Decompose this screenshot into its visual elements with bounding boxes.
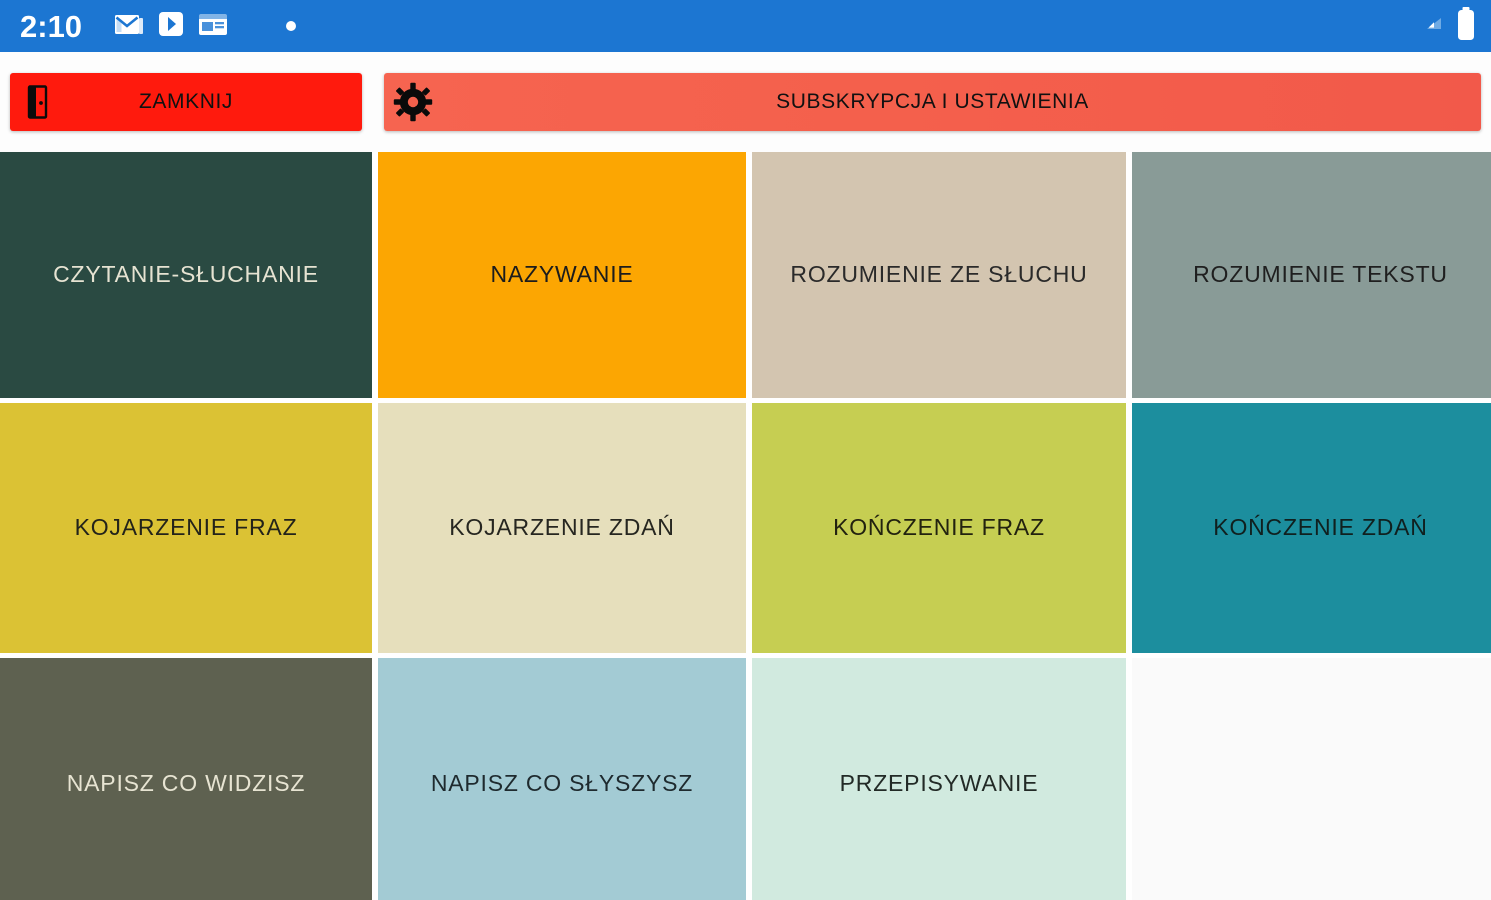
tile-rozumienie-ze-sluchu[interactable]: ROZUMIENIE ZE SŁUCHU <box>752 152 1126 398</box>
tile-nazywanie[interactable]: NAZYWANIE <box>378 152 746 398</box>
tile-konczenie-fraz[interactable]: KOŃCZENIE FRAZ <box>752 403 1126 653</box>
tile-label: ROZUMIENIE TEKSTU <box>1183 261 1458 289</box>
tile-label: CZYTANIE-SŁUCHANIE <box>43 261 329 289</box>
tile-label: NAZYWANIE <box>480 261 643 289</box>
tile-label: ROZUMIENIE ZE SŁUCHU <box>780 261 1097 289</box>
tile-czytanie-sluchanie[interactable]: CZYTANIE-SŁUCHANIE <box>0 152 372 398</box>
gmail-icon <box>114 11 144 42</box>
tile-label: KOJARZENIE FRAZ <box>65 514 308 542</box>
status-bar-right <box>1425 6 1477 47</box>
subscription-settings-label: SUBSKRYPCJA I USTAWIENIA <box>442 90 1481 114</box>
tile-label: KOJARZENIE ZDAŃ <box>439 514 684 542</box>
tile-rozumienie-tekstu[interactable]: ROZUMIENIE TEKSTU <box>1132 152 1491 398</box>
status-bar-notifications <box>228 21 1425 31</box>
tile-label: KOŃCZENIE ZDAŃ <box>1203 514 1437 542</box>
play-store-icon <box>158 11 184 42</box>
news-widget-icon <box>198 11 228 42</box>
top-toolbar: ZAMKNIJ <box>0 52 1491 152</box>
close-button-label: ZAMKNIJ <box>68 90 362 114</box>
tile-napisz-co-widzisz[interactable]: NAPISZ CO WIDZISZ <box>0 658 372 900</box>
tile-label: KOŃCZENIE FRAZ <box>823 514 1055 542</box>
subscription-settings-button[interactable]: SUBSKRYPCJA I USTAWIENIA <box>384 73 1481 131</box>
gear-icon <box>384 82 442 122</box>
exercise-grid: CZYTANIE-SŁUCHANIE NAZYWANIE ROZUMIENIE … <box>0 152 1491 900</box>
tile-kojarzenie-zdan[interactable]: KOJARZENIE ZDAŃ <box>378 403 746 653</box>
tile-napisz-co-slyszysz[interactable]: NAPISZ CO SŁYSZYSZ <box>378 658 746 900</box>
notification-dot-icon <box>286 21 296 31</box>
tile-empty-slot <box>1132 658 1491 900</box>
door-exit-icon <box>10 85 68 119</box>
status-bar-clock: 2:10 <box>20 11 82 42</box>
tile-kojarzenie-fraz[interactable]: KOJARZENIE FRAZ <box>0 403 372 653</box>
tile-konczenie-zdan[interactable]: KOŃCZENIE ZDAŃ <box>1132 403 1491 653</box>
signal-icon <box>1425 15 1443 38</box>
status-bar: 2:10 <box>0 0 1491 52</box>
close-button[interactable]: ZAMKNIJ <box>10 73 362 131</box>
tile-label: NAPISZ CO WIDZISZ <box>57 770 316 798</box>
battery-icon <box>1455 6 1477 47</box>
app-screen: 2:10 <box>0 0 1491 900</box>
tile-label: PRZEPISYWANIE <box>830 770 1049 798</box>
tile-label: NAPISZ CO SŁYSZYSZ <box>421 770 703 798</box>
status-bar-left: 2:10 <box>20 11 228 42</box>
tile-przepisywanie[interactable]: PRZEPISYWANIE <box>752 658 1126 900</box>
